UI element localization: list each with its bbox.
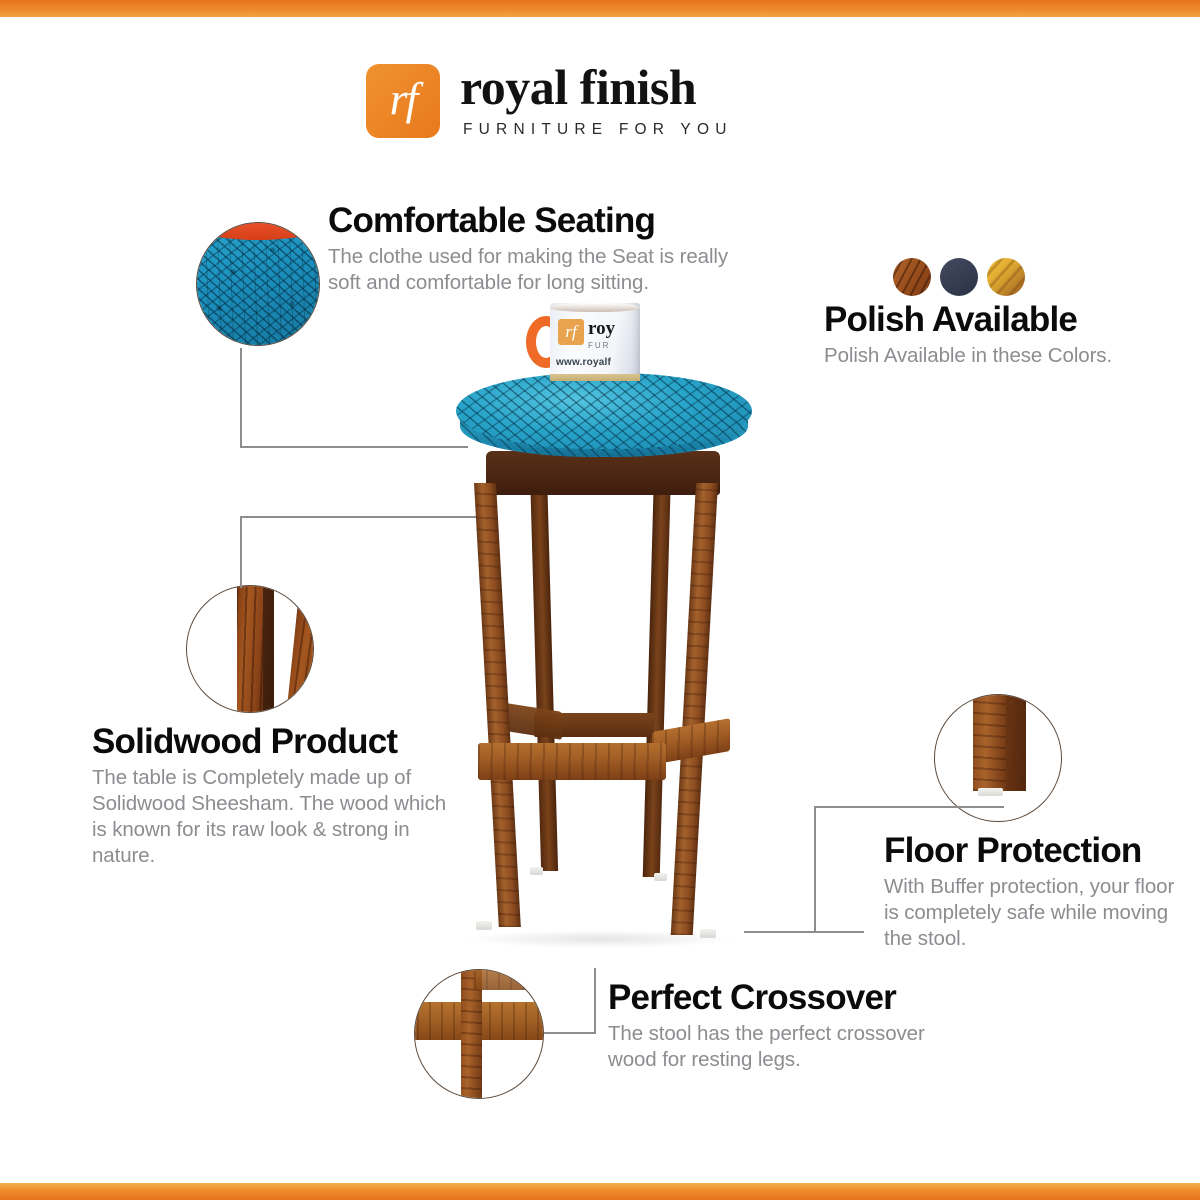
wood-plank-main bbox=[237, 585, 262, 713]
stool-foot-2 bbox=[530, 867, 543, 875]
polish-swatch-group bbox=[893, 258, 1025, 296]
solidwood-connector-v1 bbox=[240, 516, 242, 588]
fabric-fill bbox=[197, 223, 319, 345]
logo-text-block: royal finish FURNITURE FOR YOU bbox=[460, 62, 733, 139]
seating-connector-v1 bbox=[240, 348, 242, 448]
feature-solidwood-product: Solidwood Product The table is Completel… bbox=[92, 724, 464, 870]
feature-title: Solidwood Product bbox=[92, 724, 464, 761]
stool-foot-4 bbox=[700, 929, 716, 938]
stool-leg-back-right bbox=[643, 473, 671, 877]
infographic-page: rf royal finish FURNITURE FOR YOU Comfor… bbox=[0, 0, 1200, 1200]
polish-swatch-honey-brown[interactable] bbox=[893, 258, 931, 296]
logo-monogram: rf bbox=[366, 64, 440, 138]
stool-apron bbox=[486, 451, 720, 495]
logo-mark-icon: rf bbox=[366, 64, 440, 138]
mug-brand-sub: FUR bbox=[588, 341, 610, 350]
polish-swatch-dark-navy[interactable] bbox=[940, 258, 978, 296]
feature-title: Comfortable Seating bbox=[328, 203, 748, 240]
brand-tagline: FURNITURE FOR YOU bbox=[460, 121, 733, 139]
mug-base bbox=[550, 374, 640, 381]
floor-connector-h2 bbox=[814, 806, 1004, 808]
mug-rim bbox=[550, 303, 640, 312]
floor-connector-v1 bbox=[814, 806, 816, 933]
wood-grain-icon bbox=[186, 585, 314, 713]
leg-tip-graphic bbox=[973, 694, 1006, 791]
mug-logo-icon: rf bbox=[558, 319, 584, 345]
stool-foot-1 bbox=[476, 921, 492, 930]
feature-title: Perfect Crossover bbox=[608, 980, 958, 1017]
wood-plank-dark bbox=[263, 585, 274, 713]
seating-connector-h1 bbox=[240, 446, 468, 448]
mug-url-text: www.royalf bbox=[556, 357, 611, 368]
product-stool-image bbox=[438, 355, 768, 975]
feature-title: Floor Protection bbox=[884, 833, 1184, 870]
feature-perfect-crossover: Perfect Crossover The stool has the perf… bbox=[608, 980, 958, 1073]
stool-leg-back-left bbox=[530, 473, 558, 871]
polish-description: Polish Available in these Colors. bbox=[824, 343, 1154, 369]
polish-swatch-golden-teak[interactable] bbox=[987, 258, 1025, 296]
mug-brand-word: roy bbox=[588, 319, 615, 338]
leg-buffer-icon bbox=[934, 694, 1062, 822]
feature-floor-protection: Floor Protection With Buffer protection,… bbox=[884, 833, 1184, 952]
fabric-texture-icon bbox=[196, 222, 320, 346]
stool-leg-front-right bbox=[671, 483, 718, 935]
crossover-brace-icon bbox=[414, 969, 544, 1099]
branded-mug: rf roy FUR www.royalf bbox=[530, 303, 642, 381]
polish-title: Polish Available bbox=[824, 302, 1154, 339]
crossover-connector-v1 bbox=[594, 968, 596, 1034]
stool-brace-front bbox=[478, 743, 666, 780]
stool-foot-3 bbox=[654, 873, 667, 881]
feature-comfortable-seating: Comfortable Seating The clothe used for … bbox=[328, 203, 748, 296]
bottom-accent-bar bbox=[0, 1183, 1200, 1200]
brand-logo: rf royal finish FURNITURE FOR YOU bbox=[366, 62, 733, 139]
feature-description: With Buffer protection, your floor is co… bbox=[884, 874, 1184, 953]
feature-description: The clothe used for making the Seat is r… bbox=[328, 244, 748, 296]
wood-plank-right bbox=[285, 585, 314, 713]
stool-cushion-seat bbox=[456, 373, 752, 449]
feature-description: The stool has the perfect crossover wood… bbox=[608, 1021, 958, 1073]
leg-tip-side bbox=[1006, 694, 1026, 791]
crossover-connector-h1 bbox=[544, 1032, 596, 1034]
top-accent-bar bbox=[0, 0, 1200, 17]
buffer-pad-graphic bbox=[978, 788, 1003, 796]
feature-polish-available: Polish Available Polish Available in the… bbox=[824, 302, 1154, 369]
brand-name: royal finish bbox=[460, 62, 733, 112]
feature-description: The table is Completely made up of Solid… bbox=[92, 765, 464, 870]
stool-shadow bbox=[468, 930, 733, 948]
